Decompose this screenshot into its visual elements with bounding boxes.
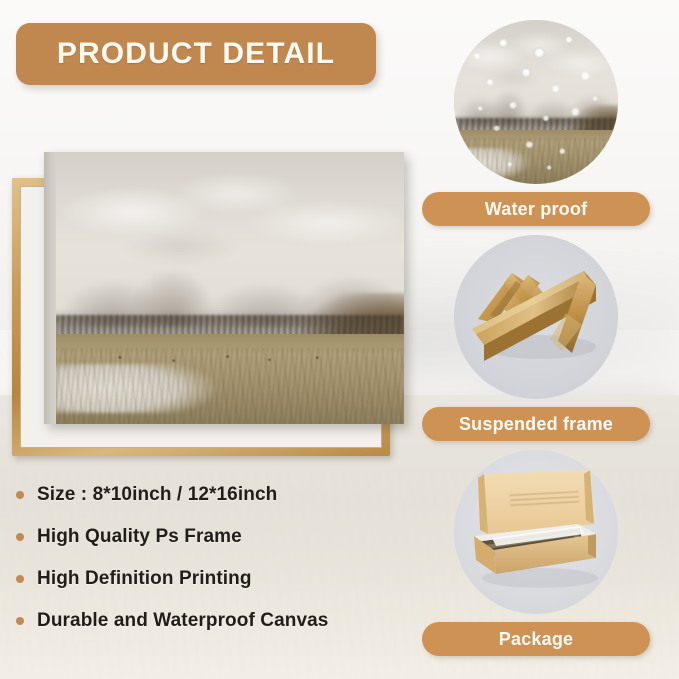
spec-label: High Quality Ps Frame — [37, 526, 242, 548]
feature-label: Water proof — [485, 199, 588, 220]
spec-label: Durable and Waterproof Canvas — [37, 610, 328, 632]
water-droplets-icon — [454, 20, 618, 184]
feature-label: Package — [499, 629, 573, 650]
feature-suspended-frame: Suspended frame — [420, 235, 652, 441]
canvas-wrap-edge — [44, 152, 56, 424]
feature-package: Package — [420, 450, 652, 656]
bullet-dot-icon — [16, 491, 24, 499]
box-printed-note — [509, 491, 579, 509]
feature-label-pill-package: Package — [422, 622, 650, 656]
list-item: Durable and Waterproof Canvas — [16, 600, 416, 642]
bullet-dot-icon — [16, 617, 24, 625]
product-image — [8, 148, 408, 468]
spec-label: High Definition Printing — [37, 568, 252, 590]
list-item: Size : 8*10inch / 12*16inch — [16, 474, 416, 516]
feature-label-pill-suspended-frame: Suspended frame — [422, 407, 650, 441]
feature-water-proof: Water proof — [420, 20, 652, 226]
page-title-banner: PRODUCT DETAIL — [16, 23, 376, 85]
open-box-illustration — [454, 450, 618, 614]
wood-frame-corners-illustration — [454, 235, 618, 399]
feature-label: Suspended frame — [459, 414, 613, 435]
specs-list: Size : 8*10inch / 12*16inch High Quality… — [16, 474, 416, 642]
spec-label: Size : 8*10inch / 12*16inch — [37, 484, 277, 506]
list-item: High Definition Printing — [16, 558, 416, 600]
feature-label-pill-water-proof: Water proof — [422, 192, 650, 226]
wood-frame-corners-icon — [454, 235, 618, 399]
droplets-overlay — [454, 20, 618, 184]
bullet-dot-icon — [16, 575, 24, 583]
canvas-artwork — [56, 152, 404, 424]
page-title: PRODUCT DETAIL — [57, 37, 335, 71]
open-box-icon — [454, 450, 618, 614]
canvas-print — [44, 152, 404, 424]
product-detail-page: PRODUCT DETAIL — [0, 0, 679, 679]
list-item: High Quality Ps Frame — [16, 516, 416, 558]
bullet-dot-icon — [16, 533, 24, 541]
